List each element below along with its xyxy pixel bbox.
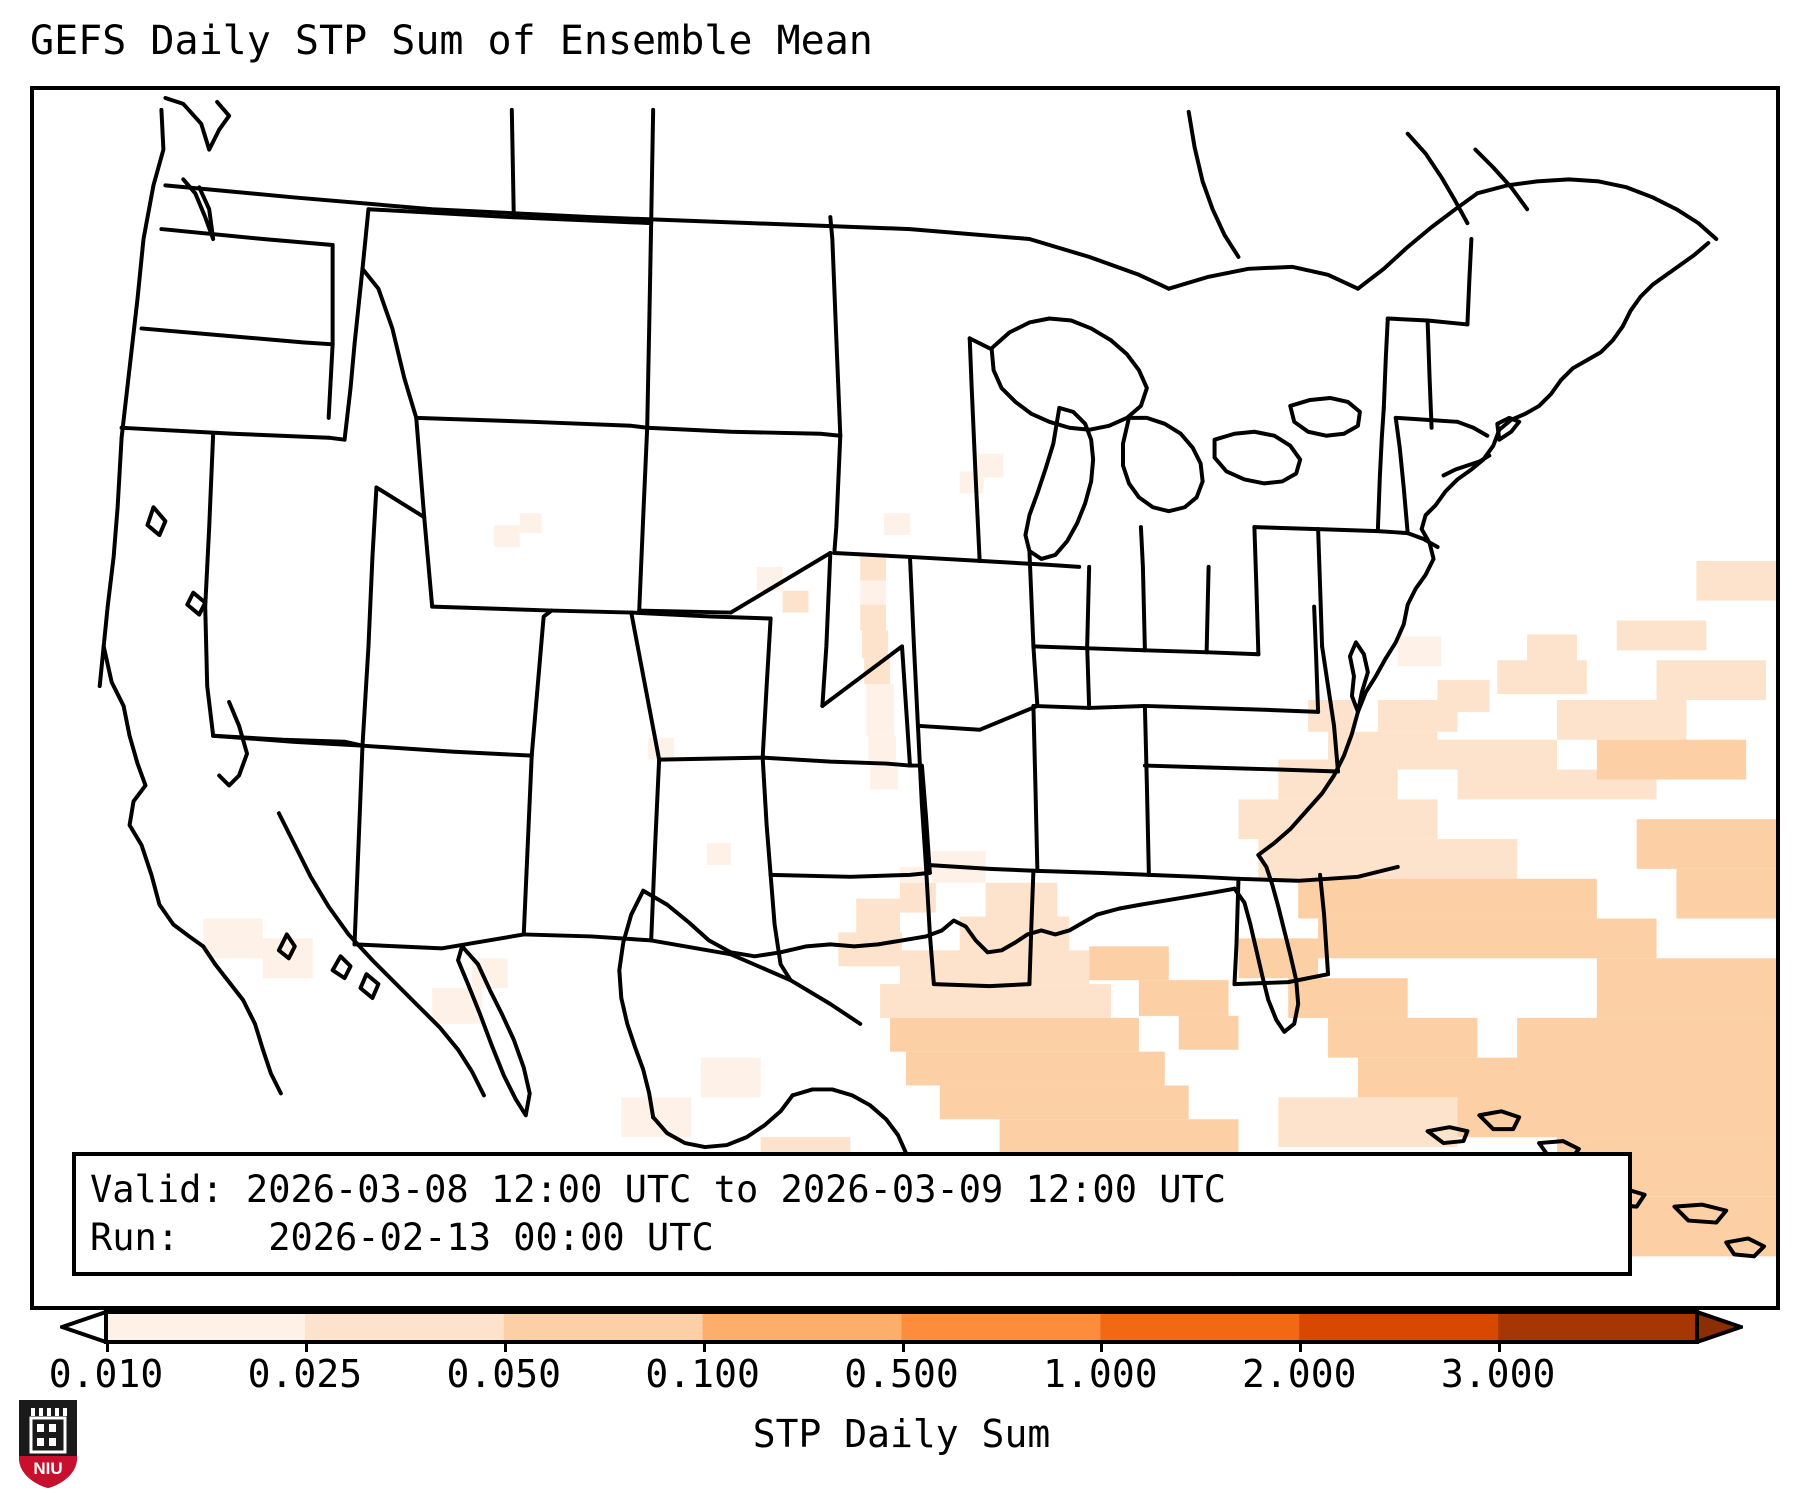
colorbar-tick-label: 2.000	[1242, 1352, 1356, 1396]
colorbar-segment	[1498, 1312, 1697, 1342]
colorbar-segment	[106, 1312, 305, 1342]
colorbar-tick-label: 0.050	[447, 1352, 561, 1396]
colorbar-segment	[703, 1312, 902, 1342]
valid-time-text: Valid: 2026-03-08 12:00 UTC to 2026-03-0…	[90, 1166, 1628, 1214]
colorbar-axis-label: STP Daily Sum	[0, 1412, 1803, 1456]
colorbar-segment	[1100, 1312, 1299, 1342]
colorbar-tick-label: 0.025	[248, 1352, 362, 1396]
info-box: Valid: 2026-03-08 12:00 UTC to 2026-03-0…	[72, 1152, 1632, 1276]
colorbar-segment	[305, 1312, 504, 1342]
colorbar	[60, 1310, 1743, 1344]
colorbar-segment	[1299, 1312, 1498, 1342]
colorbar-under-arrow	[62, 1312, 106, 1342]
colorbar-gradient	[60, 1310, 1743, 1344]
map-frame: Valid: 2026-03-08 12:00 UTC to 2026-03-0…	[30, 86, 1780, 1310]
colorbar-over-arrow	[1697, 1312, 1741, 1342]
colorbar-tick-label: 0.010	[49, 1352, 163, 1396]
colorbar-tick-label: 1.000	[1043, 1352, 1157, 1396]
colorbar-segment	[902, 1312, 1101, 1342]
coastline-paths	[100, 98, 1764, 1264]
colorbar-tick-labels: 0.0100.0250.0500.1000.5001.0002.0003.000	[0, 1352, 1803, 1400]
niu-logo: NIU	[17, 1398, 79, 1490]
state-boundary-paths	[122, 110, 1488, 1024]
niu-logo-text: NIU	[33, 1459, 62, 1478]
colorbar-tick-label: 0.100	[645, 1352, 759, 1396]
page-title: GEFS Daily STP Sum of Ensemble Mean	[30, 18, 873, 64]
geography-outlines	[34, 90, 1776, 1306]
map-canvas: Valid: 2026-03-08 12:00 UTC to 2026-03-0…	[34, 90, 1776, 1306]
colorbar-tick-label: 0.500	[844, 1352, 958, 1396]
run-time-text: Run: 2026-02-13 00:00 UTC	[90, 1214, 1628, 1262]
colorbar-segment	[504, 1312, 703, 1342]
colorbar-tick-label: 3.000	[1441, 1352, 1555, 1396]
